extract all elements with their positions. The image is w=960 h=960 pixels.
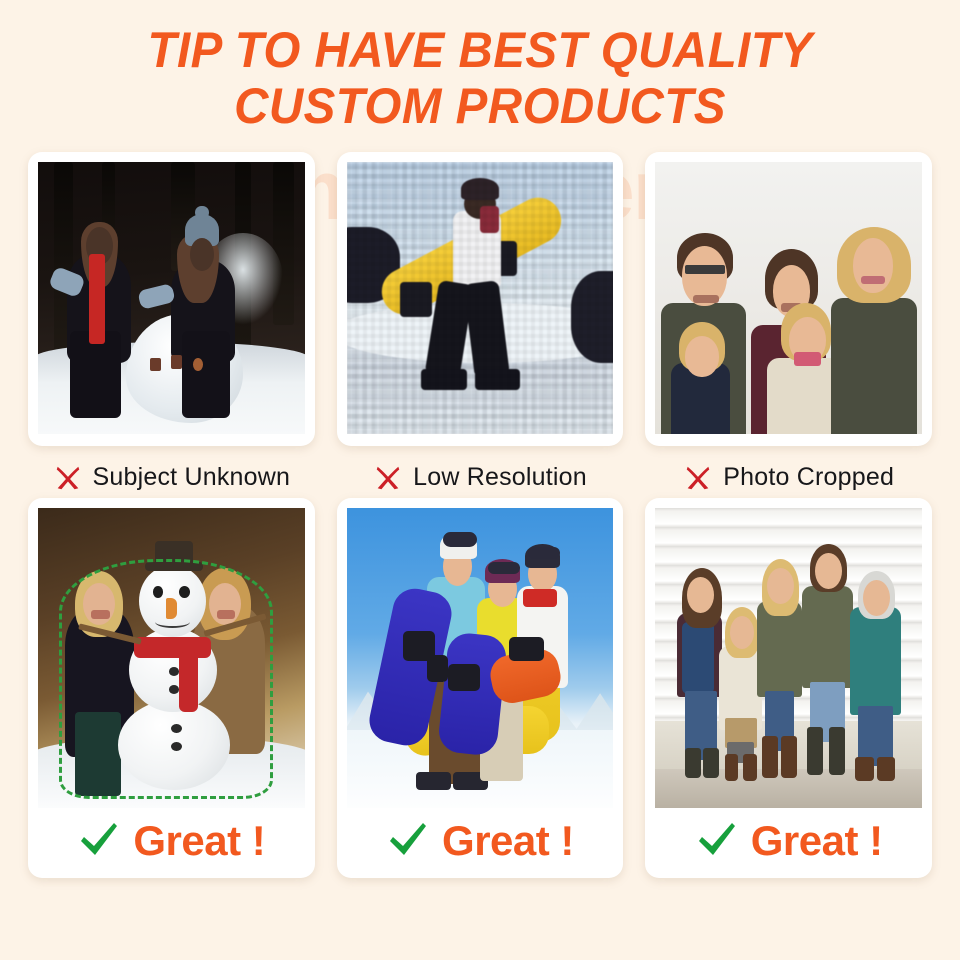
photo-great-family (655, 508, 922, 808)
status-row-low-resolution: Low Resolution (373, 460, 587, 494)
photo-low-resolution (347, 162, 614, 434)
tip-cell-great-family: Great ! (645, 498, 932, 878)
status-row-great-snowman: Great ! (38, 808, 305, 874)
green-check-icon (386, 819, 430, 863)
page-title-line-1: TIP TO HAVE BEST QUALITY (24, 22, 936, 78)
photo-great-snowboarders (347, 508, 614, 808)
page-title-line-2: CUSTOM PRODUCTS (24, 78, 936, 134)
tip-cell-great-snowboarders: Great ! (337, 498, 624, 878)
status-label: Great ! (751, 817, 883, 865)
photo-card-great-family[interactable]: Great ! (645, 498, 932, 878)
green-check-icon (695, 819, 739, 863)
photo-card-great-snowman[interactable]: Great ! (28, 498, 315, 878)
photo-great-snowman (38, 508, 305, 808)
status-label: Subject Unknown (93, 463, 291, 492)
tip-cell-subject-unknown: Subject Unknown (28, 152, 315, 494)
status-label: Great ! (133, 817, 265, 865)
status-row-great-family: Great ! (655, 808, 922, 874)
page-title: TIP TO HAVE BEST QUALITY CUSTOM PRODUCTS (24, 0, 936, 134)
status-label: Low Resolution (413, 463, 587, 492)
photo-card-subject-unknown[interactable] (28, 152, 315, 446)
photo-card-great-snowboarders[interactable]: Great ! (337, 498, 624, 878)
green-check-icon (77, 819, 121, 863)
tip-cell-great-snowman: Great ! (28, 498, 315, 878)
tip-cell-photo-cropped: Photo Cropped (645, 152, 932, 494)
status-label: Great ! (442, 817, 574, 865)
photo-subject-unknown (38, 162, 305, 434)
status-row-photo-cropped: Photo Cropped (683, 460, 894, 494)
photo-card-low-resolution[interactable] (337, 152, 624, 446)
red-x-icon (373, 462, 403, 492)
photo-photo-cropped (655, 162, 922, 434)
status-row-great-snowboarders: Great ! (347, 808, 614, 874)
status-row-subject-unknown: Subject Unknown (53, 460, 291, 494)
status-label: Photo Cropped (723, 463, 894, 492)
red-x-icon (683, 462, 713, 492)
tips-grid: Subject Unknown (0, 152, 960, 878)
tip-cell-low-resolution: Low Resolution (337, 152, 624, 494)
photo-card-photo-cropped[interactable] (645, 152, 932, 446)
red-x-icon (53, 462, 83, 492)
